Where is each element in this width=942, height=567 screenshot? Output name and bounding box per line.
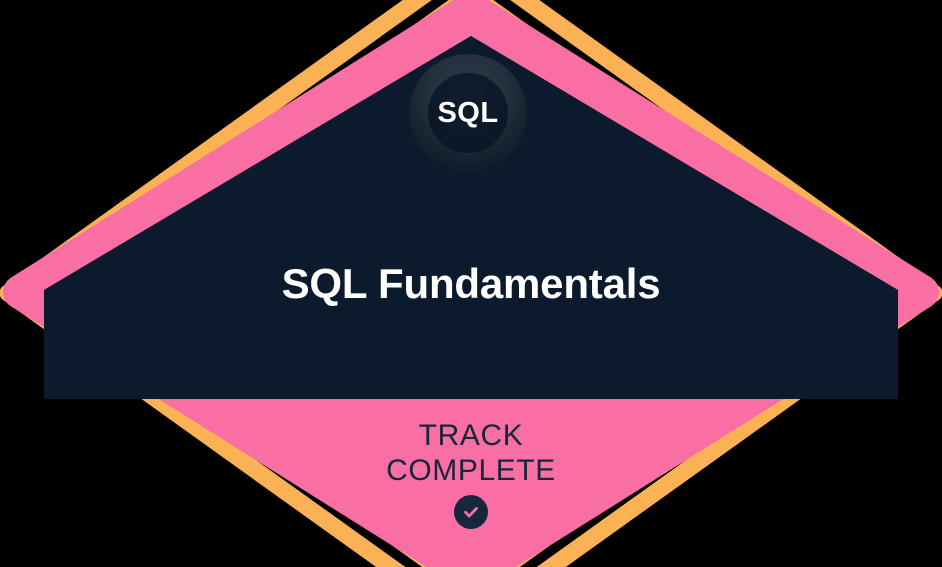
track-completion-badge: SQL SQL Fundamentals TRACK COMPLETE [0,0,942,567]
badge-shape-graphic [0,0,942,567]
